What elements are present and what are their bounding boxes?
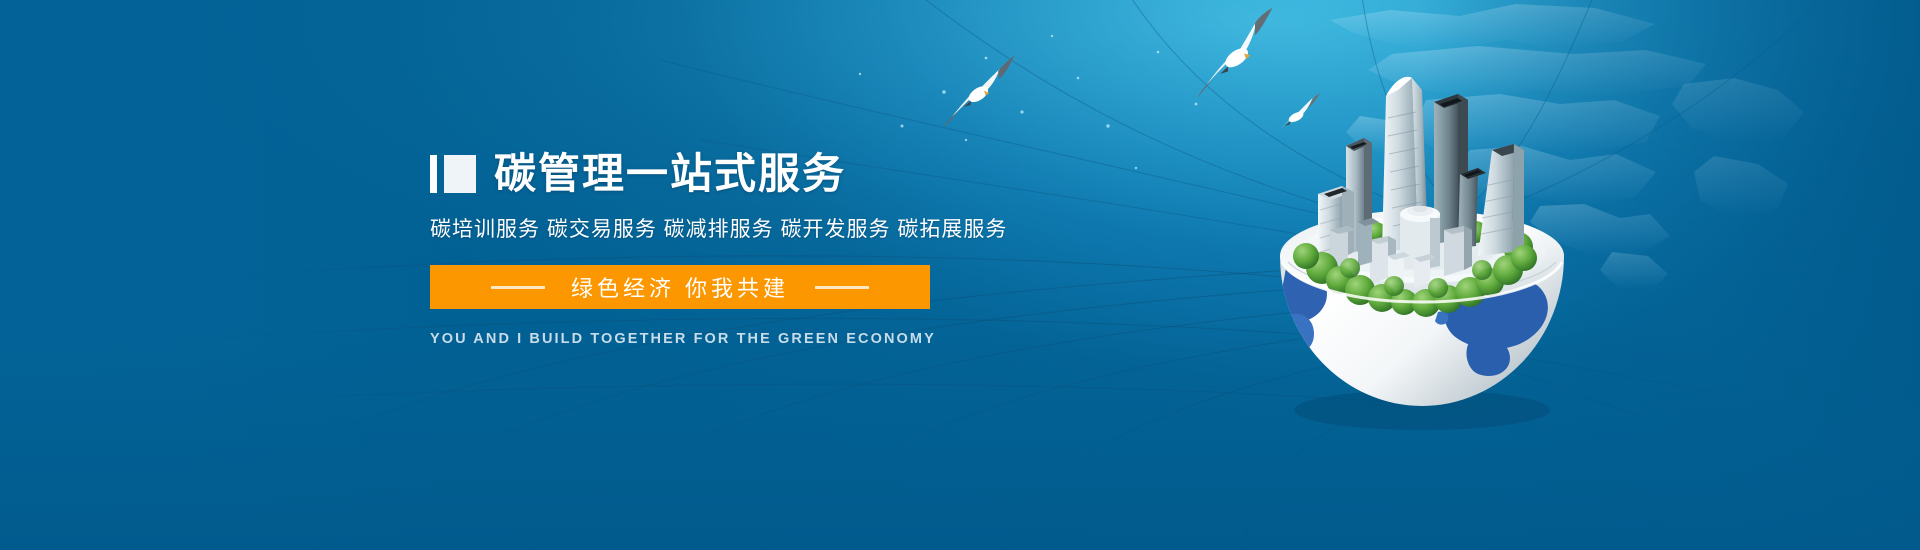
english-tagline: YOU AND I BUILD TOGETHER FOR THE GREEN E… (430, 331, 930, 347)
hero-banner: 碳管理一站式服务 碳培训服务 碳交易服务 碳减排服务 碳开发服务 碳拓展服务 绿… (0, 0, 1920, 550)
seagull-left-icon (937, 51, 1024, 129)
service-list: 碳培训服务 碳交易服务 碳减排服务 碳开发服务 碳拓展服务 (430, 213, 1130, 243)
slogan-dash-left (491, 286, 545, 289)
background-bottom-fade (0, 320, 1920, 550)
slogan-text: 绿色经济 你我共建 (571, 271, 789, 303)
page-title: 碳管理一站式服务 (494, 153, 846, 195)
half-globe-with-city-illustration (1262, 18, 1582, 438)
banner-content: 碳管理一站式服务 碳培训服务 碳交易服务 碳减排服务 碳开发服务 碳拓展服务 绿… (430, 148, 1130, 347)
slogan-dash-right (815, 286, 869, 289)
slogan-bar: 绿色经济 你我共建 (430, 265, 930, 309)
bar-square-mark-icon (430, 155, 476, 193)
headline-row: 碳管理一站式服务 (430, 148, 1130, 200)
